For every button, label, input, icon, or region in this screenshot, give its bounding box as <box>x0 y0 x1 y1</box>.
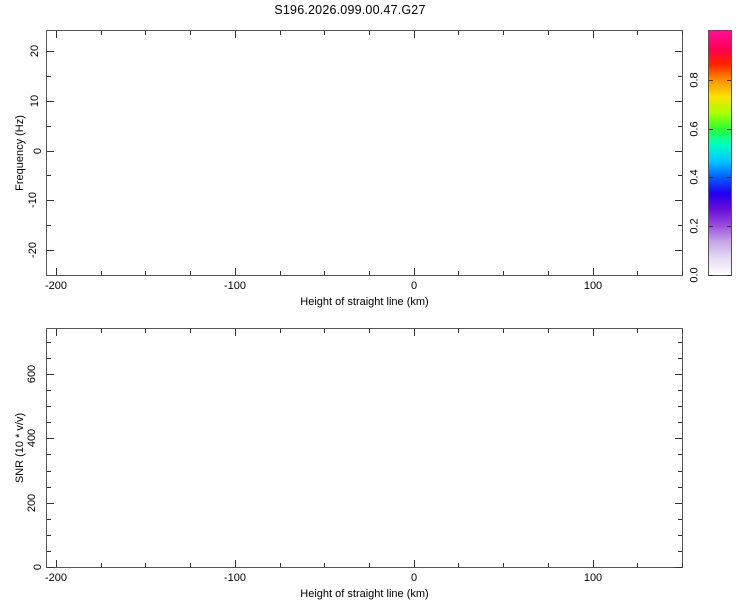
snr-ytick-major-right <box>675 503 682 504</box>
spectrogram-xtick-minor <box>145 271 146 275</box>
spectrogram-ytick-major-right <box>675 250 682 251</box>
snr-xticklabel: 100 <box>584 572 602 584</box>
snr-xtick-minor <box>101 563 102 567</box>
spectrogram-ytick-major <box>47 101 54 102</box>
snr-ytick-minor <box>47 519 51 520</box>
spectrogram-xtick-minor-top <box>280 31 281 35</box>
colorbar-tick <box>709 275 713 276</box>
snr-ytick-minor-right <box>678 390 682 391</box>
spectrogram-ytick-minor-right <box>678 175 682 176</box>
snr-ytick-minor <box>47 535 51 536</box>
spectrogram-ytick-minor <box>47 225 51 226</box>
snr-ytick-major-right <box>675 374 682 375</box>
snr-xticklabel: -200 <box>45 572 67 584</box>
snr-xtick-major-top <box>56 329 57 336</box>
snr-xtick-minor-top <box>682 329 683 333</box>
snr-ytick-major <box>47 567 54 568</box>
snr-xtick-minor-top <box>503 329 504 333</box>
snr-ytick-major-right <box>675 567 682 568</box>
spectrogram-xtick-minor-top <box>503 31 504 35</box>
snr-ytick-minor-right <box>678 406 682 407</box>
spectrogram-xtick-major-top <box>235 31 236 38</box>
spectrogram-ytick-minor-right <box>678 126 682 127</box>
colorbar-frame <box>708 30 732 276</box>
snr-ytick-major <box>47 503 54 504</box>
snr-ytick-minor <box>47 471 51 472</box>
snr-xtick-minor-top <box>369 329 370 333</box>
spectrogram-xtick-major-top <box>56 31 57 38</box>
spectrogram-xtick-minor-top <box>458 31 459 35</box>
snr-xtick-major <box>593 560 594 567</box>
spectrogram-ytick-major <box>47 151 54 152</box>
spectrogram-ytick-major-right <box>675 200 682 201</box>
spectrogram-xtick-minor <box>682 271 683 275</box>
colorbar-tick <box>709 129 713 130</box>
spectrogram-xticklabel: 0 <box>411 280 417 292</box>
snr-yticklabel: 0 <box>32 564 44 570</box>
snr-xtick-minor-top <box>280 329 281 333</box>
spectrogram-ytick-minor-right <box>678 225 682 226</box>
spectrogram-xtick-major-top <box>414 31 415 38</box>
snr-ytick-minor-right <box>678 519 682 520</box>
colorbar-tick-right <box>727 226 731 227</box>
spectrogram-xtick-minor <box>369 271 370 275</box>
snr-xtick-major-top <box>235 329 236 336</box>
snr-ytick-minor <box>47 390 51 391</box>
spectrogram-xtick-minor-top <box>637 31 638 35</box>
spectrogram-xtick-minor <box>190 271 191 275</box>
spectrogram-xtick-major <box>235 268 236 275</box>
snr-xtick-minor <box>280 563 281 567</box>
snr-ytick-minor-right <box>678 422 682 423</box>
snr-xtick-minor <box>548 563 549 567</box>
snr-xtick-minor-top <box>548 329 549 333</box>
spectrogram-xlabel: Height of straight line (km) <box>300 296 428 308</box>
page-title: S196.2026.099.00.47.G27 <box>0 3 700 17</box>
colorbar-tick <box>709 226 713 227</box>
snr-xtick-minor <box>324 563 325 567</box>
spectrogram-xtick-major-top <box>593 31 594 38</box>
colorbar-ticklabel: 0.2 <box>688 218 700 233</box>
spectrogram-ytick-minor <box>47 126 51 127</box>
spectrogram-ytick-major <box>47 250 54 251</box>
snr-yticklabel: 600 <box>26 365 38 383</box>
snr-ytick-minor <box>47 551 51 552</box>
spectrogram-xtick-major <box>56 268 57 275</box>
spectrogram-xtick-minor-top <box>101 31 102 35</box>
spectrogram-yticklabel: -20 <box>27 242 39 258</box>
snr-ytick-minor <box>47 487 51 488</box>
snr-xtick-minor-top <box>190 329 191 333</box>
snr-xtick-minor-top <box>458 329 459 333</box>
colorbar-tick <box>709 80 713 81</box>
snr-xtick-major <box>235 560 236 567</box>
spectrogram-ytick-minor-right <box>678 76 682 77</box>
snr-ytick-minor <box>47 454 51 455</box>
snr-xticklabel: 0 <box>411 572 417 584</box>
snr-ytick-major <box>47 438 54 439</box>
spectrogram-ytick-major <box>47 51 54 52</box>
spectrogram-xtick-minor <box>503 271 504 275</box>
snr-yticklabel: 200 <box>26 494 38 512</box>
snr-xtick-minor <box>637 563 638 567</box>
spectrogram-ytick-minor <box>47 175 51 176</box>
spectrogram-xtick-minor-top <box>682 31 683 35</box>
snr-ytick-minor-right <box>678 342 682 343</box>
snr-ytick-major <box>47 374 54 375</box>
colorbar-ticklabel: 0.4 <box>688 169 700 184</box>
spectrogram-xtick-minor-top <box>369 31 370 35</box>
snr-axes-frame <box>46 328 683 568</box>
spectrogram-xtick-minor <box>280 271 281 275</box>
colorbar-tick-right <box>727 275 731 276</box>
snr-xtick-minor <box>369 563 370 567</box>
snr-xtick-minor-top <box>324 329 325 333</box>
colorbar-tick <box>709 177 713 178</box>
snr-ytick-minor-right <box>678 551 682 552</box>
snr-xtick-major-top <box>414 329 415 336</box>
spectrogram-xtick-major <box>414 268 415 275</box>
snr-ytick-minor <box>47 342 51 343</box>
spectrogram-ytick-major-right <box>675 101 682 102</box>
snr-xticklabel: -100 <box>224 572 246 584</box>
snr-xtick-minor-top <box>637 329 638 333</box>
spectrogram-xtick-minor-top <box>548 31 549 35</box>
snr-ytick-minor-right <box>678 358 682 359</box>
snr-xtick-minor <box>682 563 683 567</box>
figure-canvas: S196.2026.099.00.47.G27 Height of straig… <box>0 0 750 600</box>
spectrogram-ytick-major-right <box>675 151 682 152</box>
snr-xtick-minor-top <box>101 329 102 333</box>
snr-ytick-major-right <box>675 438 682 439</box>
snr-xtick-major <box>56 560 57 567</box>
spectrogram-ytick-major <box>47 200 54 201</box>
snr-ytick-minor-right <box>678 454 682 455</box>
spectrogram-yticklabel: 20 <box>29 45 41 57</box>
spectrogram-yticklabel: 10 <box>29 95 41 107</box>
snr-yticklabel: 400 <box>26 429 38 447</box>
spectrogram-ylabel: Frequency (Hz) <box>14 115 26 191</box>
spectrogram-xticklabel: -200 <box>45 280 67 292</box>
snr-xtick-minor <box>145 563 146 567</box>
snr-ytick-minor <box>47 422 51 423</box>
snr-xtick-minor <box>190 563 191 567</box>
colorbar-tick-right <box>727 129 731 130</box>
spectrogram-xtick-minor <box>101 271 102 275</box>
spectrogram-xtick-minor-top <box>190 31 191 35</box>
colorbar-tick-right <box>727 177 731 178</box>
snr-ytick-minor <box>47 406 51 407</box>
colorbar-tick-right <box>727 80 731 81</box>
colorbar-ticklabel: 0.8 <box>688 72 700 87</box>
snr-ytick-minor-right <box>678 487 682 488</box>
spectrogram-xtick-minor <box>548 271 549 275</box>
spectrogram-xtick-minor <box>458 271 459 275</box>
spectrogram-yticklabel: 0 <box>32 148 44 154</box>
snr-xtick-major-top <box>593 329 594 336</box>
snr-xtick-minor-top <box>145 329 146 333</box>
spectrogram-xtick-minor-top <box>324 31 325 35</box>
spectrogram-axes-frame <box>46 30 683 276</box>
spectrogram-xtick-minor-top <box>145 31 146 35</box>
snr-xlabel: Height of straight line (km) <box>300 588 428 600</box>
spectrogram-ytick-major-right <box>675 51 682 52</box>
snr-ytick-minor <box>47 358 51 359</box>
spectrogram-xticklabel: 100 <box>584 280 602 292</box>
spectrogram-xtick-major <box>593 268 594 275</box>
snr-ylabel: SNR (10 * v/v) <box>14 413 26 483</box>
spectrogram-xtick-minor <box>324 271 325 275</box>
snr-xtick-major <box>414 560 415 567</box>
colorbar-ticklabel: 0.6 <box>688 121 700 136</box>
snr-ytick-minor-right <box>678 471 682 472</box>
spectrogram-yticklabel: -10 <box>27 192 39 208</box>
spectrogram-xtick-minor <box>637 271 638 275</box>
colorbar-ticklabel: 0.0 <box>688 267 700 282</box>
snr-xtick-minor <box>503 563 504 567</box>
snr-xtick-minor <box>458 563 459 567</box>
snr-ytick-minor-right <box>678 535 682 536</box>
spectrogram-xticklabel: -100 <box>224 280 246 292</box>
spectrogram-ytick-minor <box>47 76 51 77</box>
